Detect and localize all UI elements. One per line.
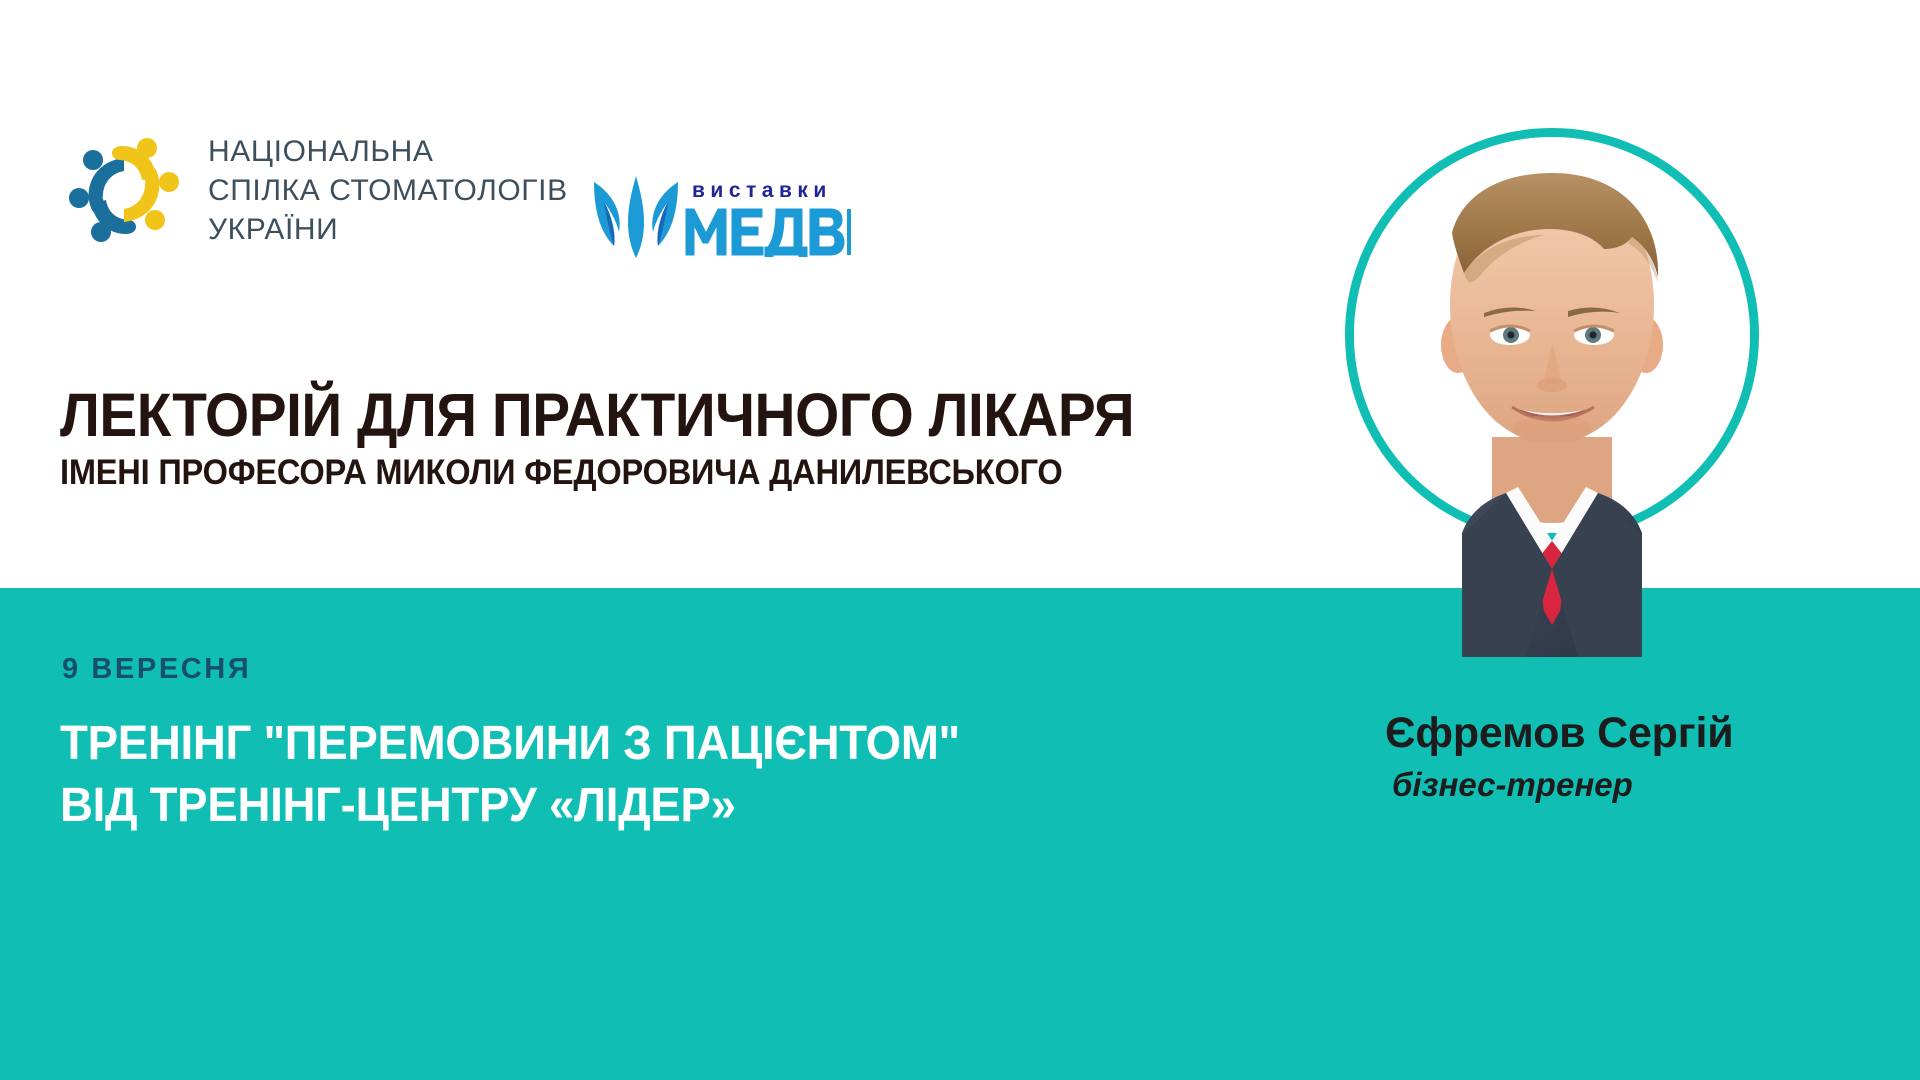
- page-title: ЛЕКТОРІЙ ДЛЯ ПРАКТИЧНОГО ЛІКАРЯ: [60, 385, 1134, 446]
- medvin-wordmark-group: виставки: [684, 180, 852, 262]
- trident-icon: [590, 176, 682, 263]
- event-title-line-2: ВІД ТРЕНІНГ-ЦЕНТРУ «ЛІДЕР»: [60, 775, 960, 837]
- nssu-line-1: НАЦІОНАЛЬНА: [208, 132, 568, 171]
- portrait-ring: [1345, 128, 1759, 542]
- medvin-tagline: виставки: [692, 180, 852, 201]
- people-circle-logo-icon: [62, 128, 186, 252]
- nssu-logo-text: НАЦІОНАЛЬНА СПІЛКА СТОМАТОЛОГІВ УКРАЇНИ: [208, 132, 568, 249]
- event-banner: НАЦІОНАЛЬНА СПІЛКА СТОМАТОЛОГІВ УКРАЇНИ: [0, 0, 1920, 1080]
- event-date: 9 ВЕРЕСНЯ: [62, 655, 251, 684]
- nssu-line-2: СПІЛКА СТОМАТОЛОГІВ: [208, 171, 568, 210]
- medvin-wordmark-icon: [684, 203, 852, 262]
- speaker-name: Єфремов Сергій: [1385, 712, 1733, 755]
- event-title: ТРЕНІНГ "ПЕРЕМОВИНИ З ПАЦІЄНТОМ" ВІД ТРЕ…: [60, 713, 960, 838]
- speaker-role: бізнес-тренер: [1392, 768, 1633, 801]
- medvin-logo: виставки: [590, 176, 852, 263]
- nssu-logo: НАЦІОНАЛЬНА СПІЛКА СТОМАТОЛОГІВ УКРАЇНИ: [62, 128, 568, 252]
- page-subtitle: ІМЕНІ ПРОФЕСОРА МИКОЛИ ФЕДОРОВИЧА ДАНИЛЕ…: [60, 455, 1063, 490]
- nssu-line-3: УКРАЇНИ: [208, 210, 568, 249]
- event-title-line-1: ТРЕНІНГ "ПЕРЕМОВИНИ З ПАЦІЄНТОМ": [60, 713, 960, 775]
